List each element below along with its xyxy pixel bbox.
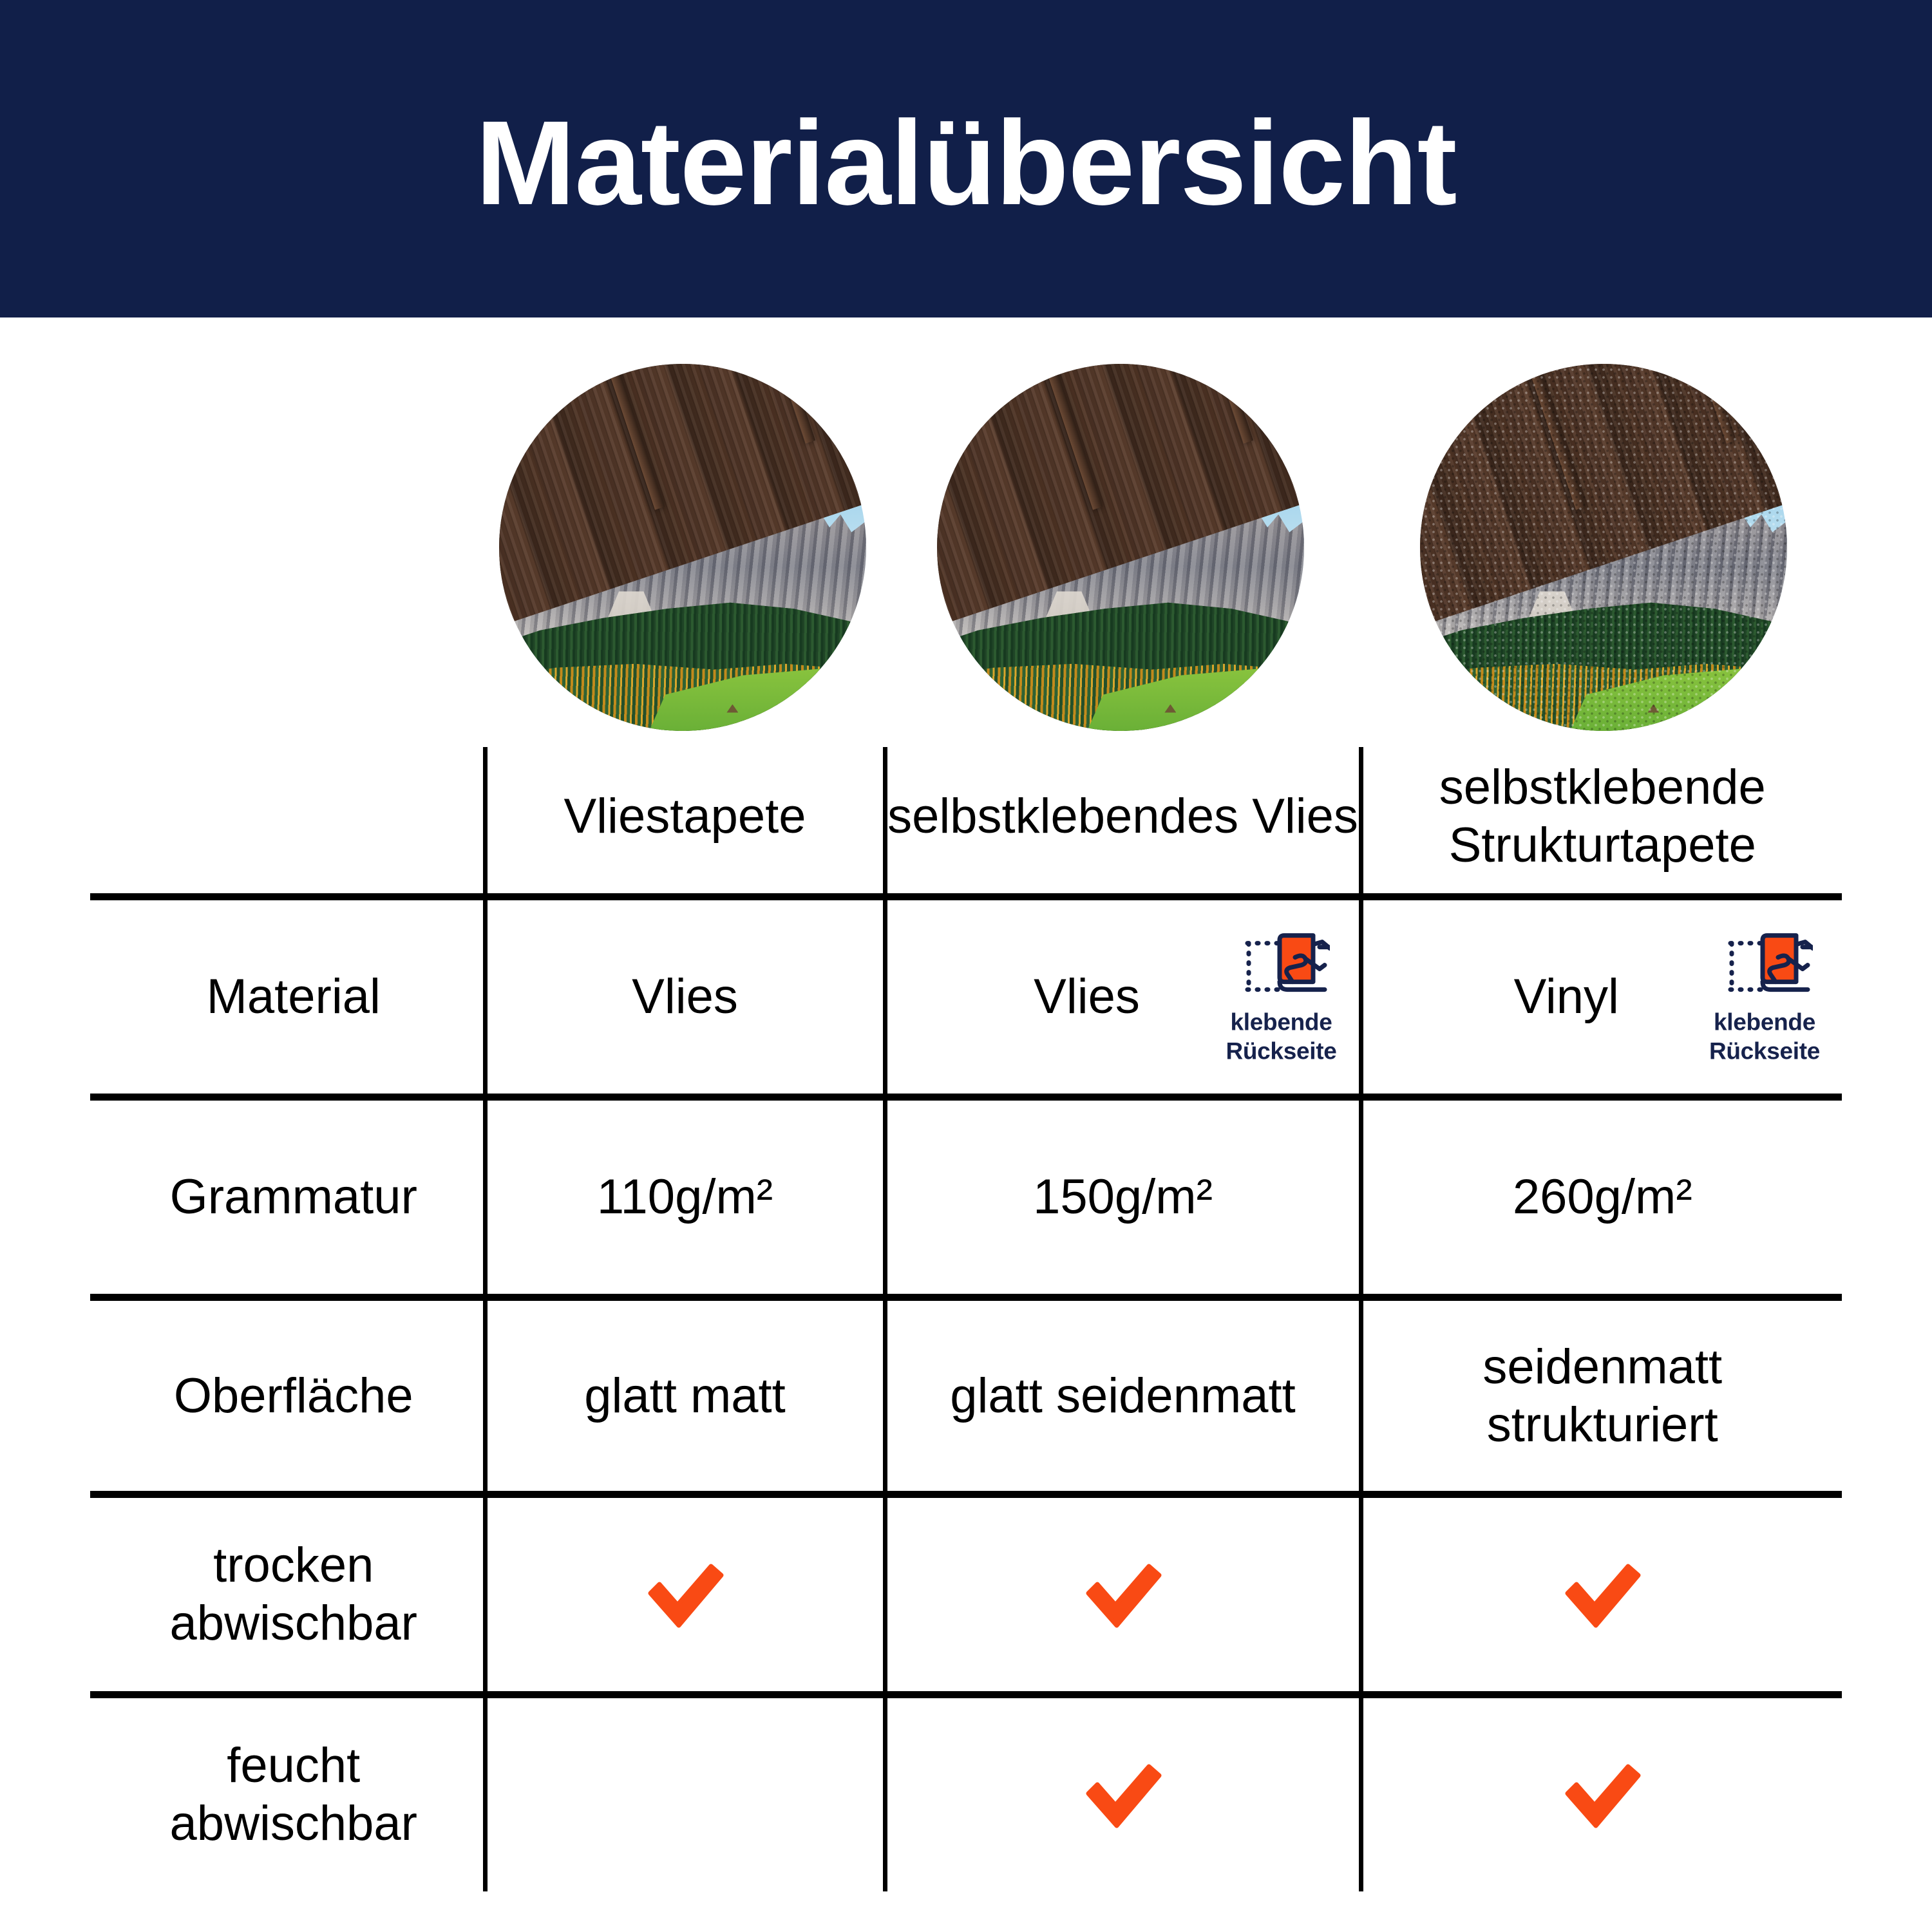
check-icon (887, 1557, 1359, 1632)
cell-material-selbstklebende-strukturtapete: Vinyl (1361, 897, 1842, 1097)
peel-sticker-hand-icon (1211, 929, 1352, 1007)
row-label-material: Material (90, 897, 485, 1097)
header-cell-empty (90, 747, 485, 897)
cell-oberflaeche-selbstklebende-strukturtapete: seidenmatt strukturiert (1361, 1298, 1842, 1495)
cell-value: Vlies (1034, 968, 1140, 1026)
cell-trocken-selbstklebende-strukturtapete (1361, 1495, 1842, 1695)
check-icon (887, 1757, 1359, 1832)
sample-image-selbstklebendes-vlies (937, 364, 1304, 731)
cell-feucht-vliestapete (485, 1695, 885, 1892)
material-comparison-table: Vliestapete selbstklebendes Vlies selbst… (90, 747, 1842, 1891)
header-cell-selbstklebende-strukturtapete: selbstklebende Strukturtapete (1361, 747, 1842, 897)
row-label-feucht-abwischbar: feucht abwischbar (90, 1695, 485, 1892)
cell-grammatur-vliestapete: 110g/m² (485, 1097, 885, 1298)
check-icon (1363, 1757, 1842, 1832)
cell-grammatur-selbstklebendes-vlies: 150g/m² (885, 1097, 1361, 1298)
sticky-back-badge: klebende Rückseite (1694, 929, 1835, 1065)
cell-material-vliestapete: Vlies (485, 897, 885, 1097)
check-icon (488, 1557, 883, 1632)
sticky-back-label-line1: klebende (1694, 1009, 1835, 1036)
mountain-photo (499, 364, 866, 731)
cell-material-selbstklebendes-vlies: Vlies (885, 897, 1361, 1097)
cell-grammatur-selbstklebende-strukturtapete: 260g/m² (1361, 1097, 1842, 1298)
table-row-trocken-abwischbar: trocken abwischbar (90, 1495, 1842, 1695)
page-title: Materialübersicht (475, 104, 1456, 223)
row-label-grammatur: Grammatur (90, 1097, 485, 1298)
header-cell-vliestapete: Vliestapete (485, 747, 885, 897)
sticky-back-badge: klebende Rückseite (1211, 929, 1352, 1065)
mountain-photo (1420, 364, 1787, 731)
peel-sticker-hand-icon (1694, 929, 1835, 1007)
row-label-trocken-abwischbar: trocken abwischbar (90, 1495, 485, 1695)
sticky-back-label-line2: Rückseite (1694, 1038, 1835, 1065)
table-row-material: Material Vlies Vlies (90, 897, 1842, 1097)
cell-trocken-selbstklebendes-vlies (885, 1495, 1361, 1695)
check-icon (1363, 1557, 1842, 1632)
sticky-back-label-line1: klebende (1211, 1009, 1352, 1036)
table-row-grammatur: Grammatur 110g/m² 150g/m² 260g/m² (90, 1097, 1842, 1298)
cell-value: Vinyl (1514, 968, 1619, 1026)
table-row-feucht-abwischbar: feucht abwischbar (90, 1695, 1842, 1892)
mountain-photo (937, 364, 1304, 731)
cell-feucht-selbstklebendes-vlies (885, 1695, 1361, 1892)
table-row-oberflaeche: Oberfläche glatt matt glatt seidenmatt s… (90, 1298, 1842, 1495)
sample-image-selbstklebende-strukturtapete (1420, 364, 1787, 731)
cell-trocken-vliestapete (485, 1495, 885, 1695)
cell-oberflaeche-vliestapete: glatt matt (485, 1298, 885, 1495)
header-cell-selbstklebendes-vlies: selbstklebendes Vlies (885, 747, 1361, 897)
page-header: Materialübersicht (0, 0, 1932, 317)
cell-oberflaeche-selbstklebendes-vlies: glatt seidenmatt (885, 1298, 1361, 1495)
cell-feucht-selbstklebende-strukturtapete (1361, 1695, 1842, 1892)
row-label-oberflaeche: Oberfläche (90, 1298, 485, 1495)
sample-image-vliestapete (499, 364, 866, 731)
sticky-back-label-line2: Rückseite (1211, 1038, 1352, 1065)
table-header-row: Vliestapete selbstklebendes Vlies selbst… (90, 747, 1842, 897)
